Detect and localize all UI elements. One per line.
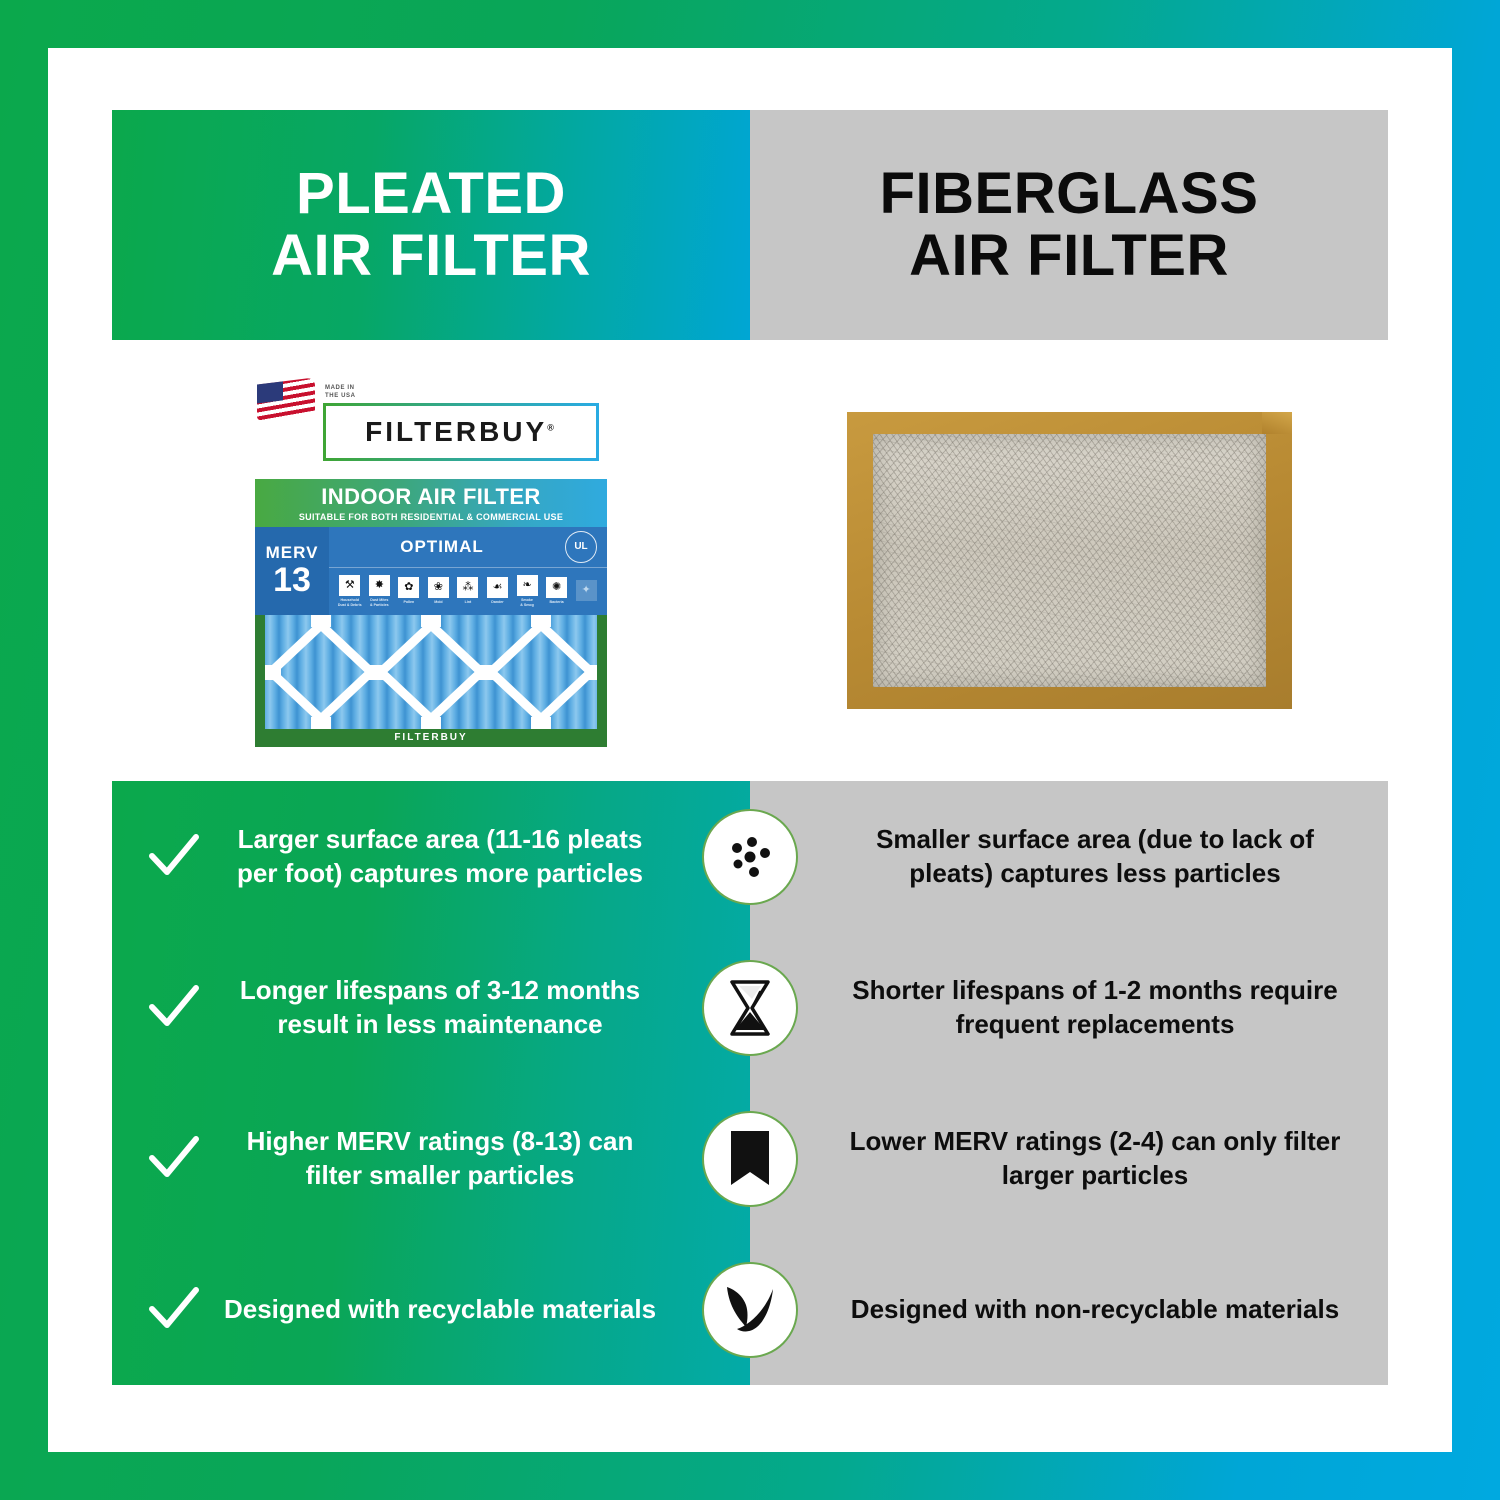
infographic-canvas: PLEATED AIR FILTER FIBERGLASS AIR FILTER… [0,0,1500,1500]
indoor-air-filter-band: INDOOR AIR FILTER SUITABLE FOR BOTH RESI… [255,479,607,527]
particles-glyph-icon [719,826,781,888]
capture-icon-7: ✺Bacteria [543,577,571,604]
header-fiberglass-title: FIBERGLASS AIR FILTER [880,163,1259,287]
fiberglass-filter-photo [847,412,1292,709]
row-3-pleated-text: Designed with recyclable materials [216,1293,664,1326]
capture-icon-2: ✿Pollen [395,577,423,604]
checkmark-icon [146,829,202,885]
band-subtitle: SUITABLE FOR BOTH RESIDENTIAL & COMMERCI… [299,512,563,522]
comparison-row: Longer lifespans of 3-12 months result i… [112,932,1388,1083]
dander-icon: ☙ [487,577,508,598]
row-3-fiberglass-text: Designed with non-recyclable materials [836,1293,1354,1326]
capture-icon-4: ⁂Lint [454,577,482,604]
registered-mark: ® [547,422,557,432]
merv-label: MERV [266,544,319,561]
pollen-icon: ✿ [398,577,419,598]
filterbuy-footer-brand: FILTERBUY [255,729,607,747]
checkmark-icon [146,1131,202,1187]
band-title: INDOOR AIR FILTER [321,484,540,510]
capture-icon-7-label: Bacteria [550,600,564,604]
capture-icon-6: ❧Smoke & Smog [513,575,541,607]
made-in-usa-label: MADE IN THE USA [325,384,356,400]
row-1-pleated-cell: Longer lifespans of 3-12 months result i… [112,974,750,1041]
capture-icon-2-label: Pollen [403,600,414,604]
smoke-smog-icon: ❧ [517,575,538,596]
row-3-pleated-cell: Designed with recyclable materials [112,1282,750,1338]
headers-row: PLEATED AIR FILTER FIBERGLASS AIR FILTER [112,110,1388,340]
row-1-fiberglass-text: Shorter lifespans of 1-2 months require … [836,974,1354,1041]
pleated-product-cell: MADE IN THE USA FILTERBUY® INDOOR AIR FI… [112,340,750,781]
header-pleated-title: PLEATED AIR FILTER [271,163,591,287]
merv-spec-right: OPTIMAL UL ⚒Household Dust & Debris ✸Dus… [329,527,607,615]
header-pleated: PLEATED AIR FILTER [112,110,750,340]
ul-cert-wrap: UL [555,531,607,563]
row-3-fiberglass-cell: Designed with non-recyclable materials [750,1293,1388,1326]
ul-certification-icon: UL [565,531,597,563]
row-0-fiberglass-cell: Smaller surface area (due to lack of ple… [750,823,1388,890]
capture-icon-5-label: Dander [491,600,503,604]
checkmark-icon [146,1282,202,1338]
merv-spec-block: MERV 13 OPTIMAL UL ⚒Household D [255,527,607,615]
filterbuy-wordmark: FILTERBUY [365,416,547,447]
filterbuy-product-box: MADE IN THE USA FILTERBUY® INDOOR AIR FI… [255,375,607,747]
capture-icon-3: ❀Mold [424,577,452,604]
filterbuy-box-top: MADE IN THE USA FILTERBUY® [255,375,607,479]
tier-label: OPTIMAL [329,537,555,557]
merv-value: 13 [273,563,311,597]
support-mesh-icon [265,615,597,729]
particles-icon [702,809,798,905]
capture-icon-3-label: Mold [434,600,442,604]
fiberglass-media-texture [873,434,1266,687]
bacteria-icon: ✺ [546,577,567,598]
row-1-pleated-text: Longer lifespans of 3-12 months result i… [216,974,664,1041]
leaf-glyph-icon [719,1281,781,1339]
mold-icon: ❀ [428,577,449,598]
row-0-pleated-cell: Larger surface area (11-16 pleats per fo… [112,823,750,890]
tier-row: OPTIMAL UL [329,527,607,568]
comparison-row: Larger surface area (11-16 pleats per fo… [112,781,1388,932]
row-0-pleated-text: Larger surface area (11-16 pleats per fo… [216,823,664,890]
comparison-panel: Larger surface area (11-16 pleats per fo… [112,781,1388,1385]
cardboard-corner-detail [1262,412,1292,434]
capture-icon-1: ✸Dust Mites & Particles [365,575,393,607]
hourglass-icon [702,960,798,1056]
merv-badge: MERV 13 [255,527,329,615]
checkmark-icon [146,980,202,1036]
dust-mites-icon: ✸ [369,575,390,596]
extra-icon: ✦ [576,580,597,601]
row-2-fiberglass-text: Lower MERV ratings (2-4) can only filter… [836,1125,1354,1192]
comparison-row: Higher MERV ratings (8-13) can filter sm… [112,1083,1388,1234]
usa-flag-icon [257,377,315,420]
capture-icon-5: ☙Dander [484,577,512,604]
capture-icon-0-label: Household Dust & Debris [338,598,362,607]
capture-icon-4-label: Lint [465,600,472,604]
hourglass-glyph-icon [722,977,778,1039]
bookmark-glyph-icon [727,1129,773,1189]
leaf-icon [702,1262,798,1358]
capture-icon-8: ✦ [572,580,600,603]
capture-icon-6-label: Smoke & Smog [520,598,534,607]
bookmark-icon [702,1111,798,1207]
row-1-fiberglass-cell: Shorter lifespans of 1-2 months require … [750,974,1388,1041]
product-images-row: MADE IN THE USA FILTERBUY® INDOOR AIR FI… [112,340,1388,781]
capture-icons-row: ⚒Household Dust & Debris ✸Dust Mites & P… [329,568,607,615]
household-dust-icon: ⚒ [339,575,360,596]
pleated-media-photo: FILTERBUY [255,615,607,747]
lint-icon: ⁂ [457,577,478,598]
capture-icon-1-label: Dust Mites & Particles [370,598,389,607]
filterbuy-logo-text: FILTERBUY® [365,416,557,448]
fiberglass-product-cell [750,340,1388,781]
comparison-row: Designed with recyclable materials Desig… [112,1234,1388,1385]
row-0-fiberglass-text: Smaller surface area (due to lack of ple… [836,823,1354,890]
white-card: PLEATED AIR FILTER FIBERGLASS AIR FILTER… [48,48,1452,1452]
filterbuy-logo-frame: FILTERBUY® [323,403,599,461]
capture-icon-0: ⚒Household Dust & Debris [336,575,364,607]
row-2-fiberglass-cell: Lower MERV ratings (2-4) can only filter… [750,1125,1388,1192]
comparison-rows: Larger surface area (11-16 pleats per fo… [112,781,1388,1385]
row-2-pleated-cell: Higher MERV ratings (8-13) can filter sm… [112,1125,750,1192]
row-2-pleated-text: Higher MERV ratings (8-13) can filter sm… [216,1125,664,1192]
header-fiberglass: FIBERGLASS AIR FILTER [750,110,1388,340]
